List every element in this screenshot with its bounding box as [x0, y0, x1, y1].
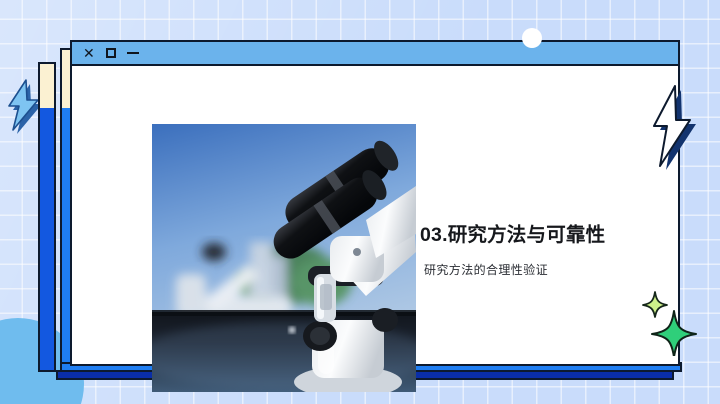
circle-decoration-title-bar	[522, 28, 542, 48]
layer-tab-cap	[40, 64, 54, 108]
window-title-bar: ✕	[72, 42, 678, 66]
layer-tab-back	[38, 62, 56, 372]
slide-canvas: ✕	[0, 0, 720, 404]
maximize-icon[interactable]	[106, 48, 116, 58]
content-window: ✕	[70, 40, 680, 366]
close-icon[interactable]: ✕	[83, 46, 95, 60]
minimize-icon[interactable]	[127, 52, 139, 55]
page-title: 03.研究方法与可靠性	[420, 218, 720, 247]
text-block: 03.研究方法与可靠性 研究方法的合理性验证	[420, 218, 720, 278]
layer-tab-body	[40, 108, 54, 370]
page-subtitle: 研究方法的合理性验证	[424, 261, 720, 278]
microscope-photo	[152, 124, 416, 392]
